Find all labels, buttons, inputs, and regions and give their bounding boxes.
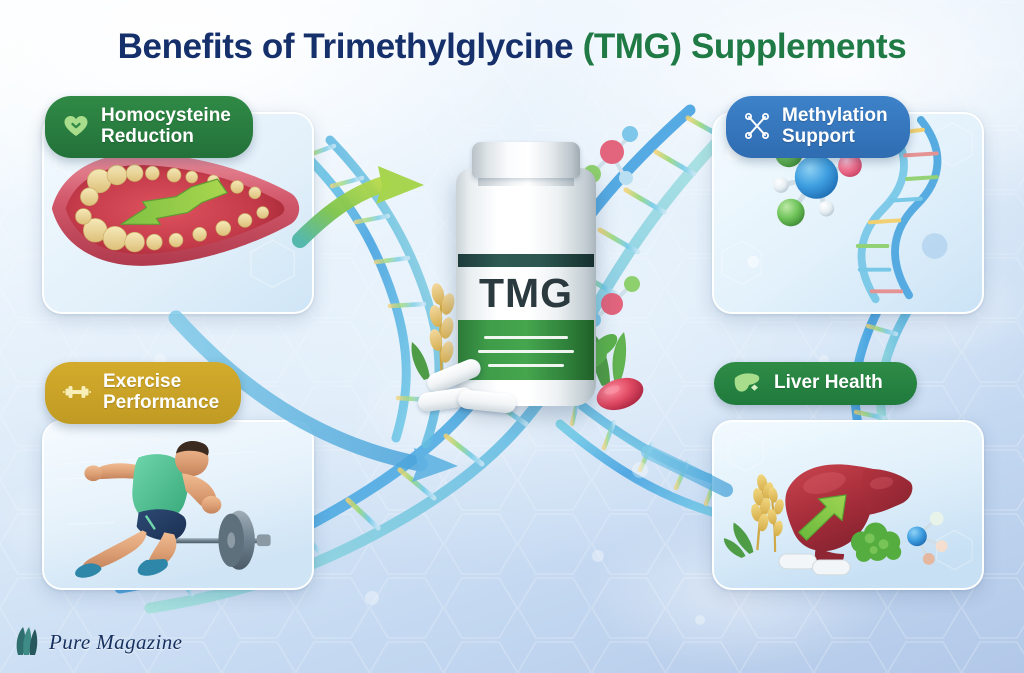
- leaf-pages-icon: [14, 625, 40, 659]
- badge-label: Homocysteine Reduction: [101, 105, 231, 148]
- product-bottle[interactable]: TMG: [406, 118, 646, 418]
- heart-icon: [63, 114, 89, 138]
- badge-liver-health[interactable]: Liver Health: [714, 362, 917, 405]
- badge-exercise-performance[interactable]: Exercise Performance: [45, 362, 241, 424]
- label-top-band: [458, 254, 594, 267]
- brand-logo[interactable]: Pure Magazine: [14, 625, 182, 659]
- title-accent: (TMG) Supplements: [583, 27, 907, 66]
- liver-icon: [732, 371, 762, 395]
- page-title: Benefits of Trimethylglycine (TMG) Suppl…: [0, 27, 1024, 67]
- benefit-panel-liver-health[interactable]: [712, 420, 984, 590]
- liver-illustration: [714, 422, 982, 590]
- badge-homocysteine-reduction[interactable]: Homocysteine Reduction: [45, 96, 253, 158]
- badge-label: Exercise Performance: [103, 371, 219, 414]
- bottle-label-text: TMG: [456, 270, 596, 317]
- label-line-2: [478, 350, 574, 353]
- brand-logo-text: Pure Magazine: [49, 630, 182, 655]
- badge-label: Liver Health: [774, 372, 883, 393]
- benefit-panel-exercise-performance[interactable]: [42, 420, 314, 590]
- badge-methylation-support[interactable]: Methylation Support: [726, 96, 910, 158]
- dumbbell-icon: [63, 381, 91, 403]
- infographic-canvas: Benefits of Trimethylglycine (TMG) Suppl…: [0, 0, 1024, 673]
- label-line-1: [484, 336, 568, 339]
- athlete-illustration: [44, 422, 312, 590]
- molecule-icon: [744, 113, 770, 139]
- badge-label: Methylation Support: [782, 105, 888, 148]
- bottle-cap: [472, 142, 580, 178]
- title-primary: Benefits of Trimethylglycine: [118, 27, 583, 66]
- label-line-3: [488, 364, 564, 367]
